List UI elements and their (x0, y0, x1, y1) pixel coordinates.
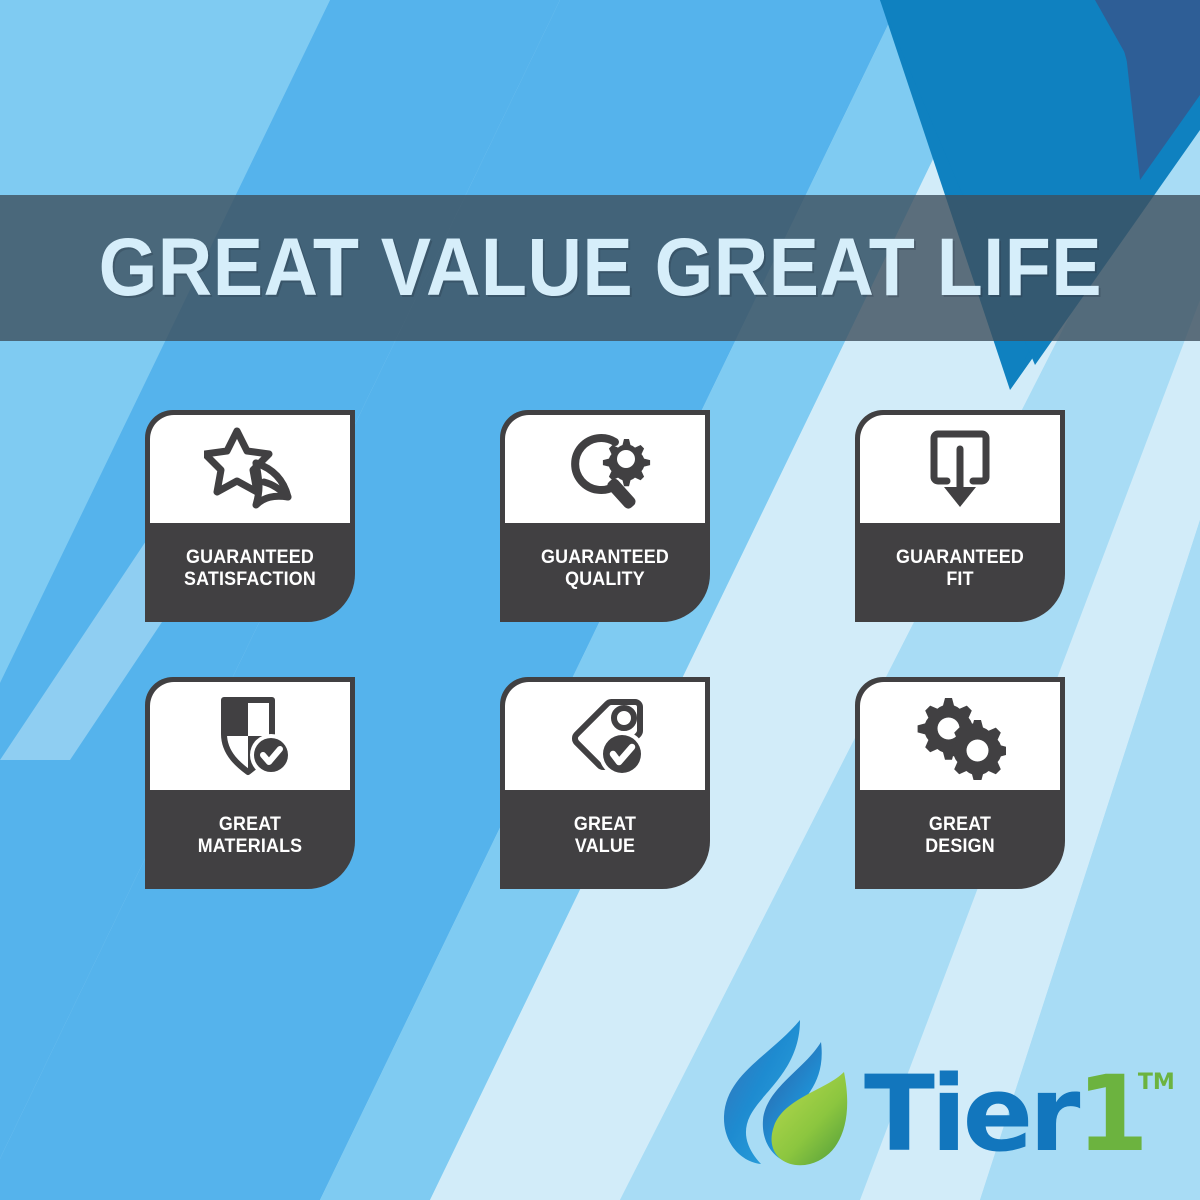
badge-label: GREAT VALUE (506, 790, 703, 889)
grid-gap (710, 410, 855, 622)
logo-word-tier: Tier (864, 1053, 1076, 1175)
magnifier-gear-icon (559, 425, 651, 513)
badge-icon-area (860, 415, 1060, 523)
logo-wordmark: Tier1 TM (864, 1062, 1145, 1172)
badge-card-guaranteed-fit[interactable]: GUARANTEED FIT (855, 410, 1065, 622)
box-down-arrow-icon (914, 425, 1006, 513)
two-gears-icon (914, 692, 1006, 780)
grid-gap (355, 677, 500, 889)
grid-gap (355, 410, 500, 622)
badge-label: GUARANTEED FIT (861, 523, 1058, 622)
badge-icon-area (505, 415, 705, 523)
badge-label: GUARANTEED QUALITY (506, 523, 703, 622)
badge-row-1: GUARANTEED SATISFACTION (145, 410, 1075, 622)
badge-icon-area (860, 682, 1060, 790)
badge-card-great-design[interactable]: GREAT DESIGN (855, 677, 1065, 889)
headline-banner: GREAT VALUE GREAT LIFE (0, 195, 1200, 341)
shooting-star-icon (204, 425, 296, 513)
logo-mark (708, 1012, 858, 1172)
shield-check-icon (204, 692, 296, 780)
brand-logo[interactable]: Tier1 TM (708, 1012, 1178, 1172)
badge-card-guaranteed-satisfaction[interactable]: GUARANTEED SATISFACTION (145, 410, 355, 622)
badge-card-great-materials[interactable]: GREAT MATERIALS (145, 677, 355, 889)
logo-layout: Tier1 TM (708, 1012, 1178, 1172)
trademark-symbol: TM (1138, 1070, 1175, 1095)
badge-label: GUARANTEED SATISFACTION (151, 523, 348, 622)
flame-leaf-icon (708, 1012, 858, 1172)
badge-icon-area (505, 682, 705, 790)
badge-icon-area (150, 415, 350, 523)
badge-icon-area (150, 682, 350, 790)
badge-label: GREAT MATERIALS (151, 790, 348, 889)
badge-label: GREAT DESIGN (861, 790, 1058, 889)
poster-canvas: GREAT VALUE GREAT LIFE GUARANTEED SATISF… (0, 0, 1200, 1200)
badge-card-guaranteed-quality[interactable]: GUARANTEED QUALITY (500, 410, 710, 622)
price-tag-check-icon (559, 692, 651, 780)
badge-grid: GUARANTEED SATISFACTION (145, 410, 1075, 889)
headline-text: GREAT VALUE GREAT LIFE (98, 227, 1101, 309)
badge-row-2: GREAT MATERIALS GREAT VALUE (145, 677, 1075, 889)
grid-gap (710, 677, 855, 889)
badge-card-great-value[interactable]: GREAT VALUE (500, 677, 710, 889)
logo-word-one: 1 (1076, 1053, 1144, 1175)
